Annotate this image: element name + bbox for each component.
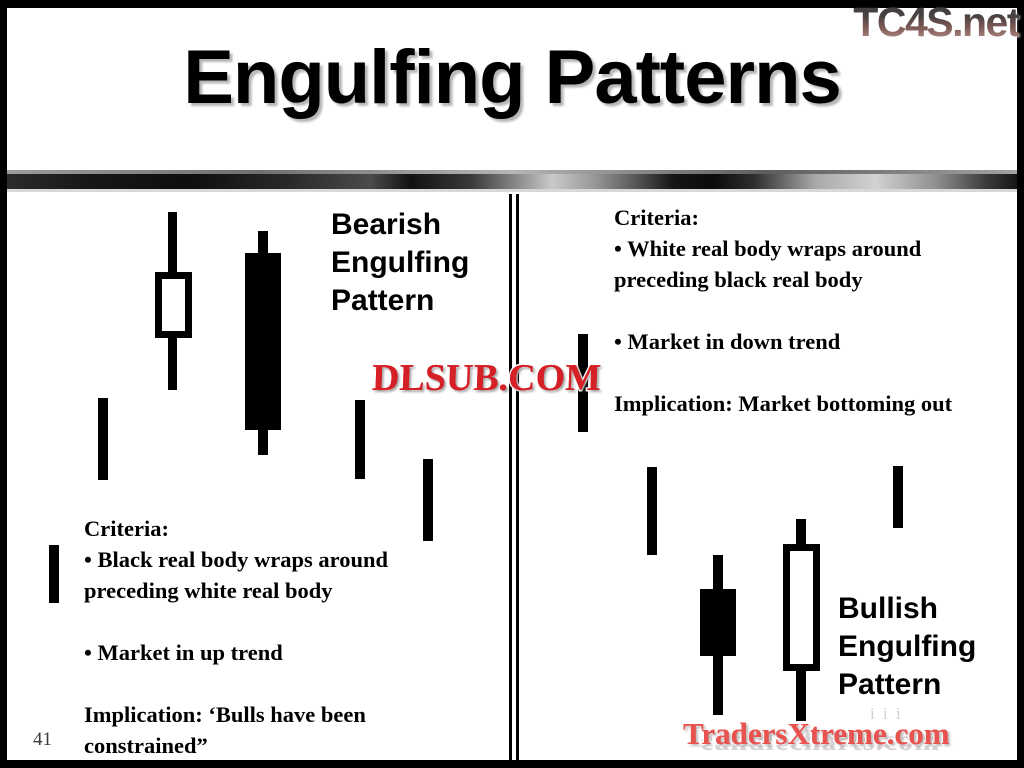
page-title: Engulfing Patterns xyxy=(0,40,1024,116)
panel-divider-line-right xyxy=(516,194,519,760)
bearish-bar-5 xyxy=(49,545,59,603)
bearish-white-candle-body xyxy=(155,272,192,338)
bullish-bar-4 xyxy=(893,466,903,528)
bullish-criteria-bullet-2: • Market in down trend xyxy=(614,326,840,357)
watermark-dlsub-fill: DLSUB.COM xyxy=(371,359,601,397)
bearish-bar-0 xyxy=(98,398,108,480)
bullish-implication: Implication: Market bottoming out xyxy=(614,388,952,419)
watermark-tradersxtreme-fill: TradersXtreme.com xyxy=(683,718,950,749)
title-divider-bar xyxy=(7,174,1017,192)
bearish-black-candle-body xyxy=(245,253,281,430)
bullish-criteria-heading: Criteria: xyxy=(614,202,699,233)
page-number: 41 xyxy=(33,729,52,751)
bullish-bar-1 xyxy=(647,467,657,555)
bullish-black-candle-body xyxy=(700,589,736,656)
panel-divider xyxy=(509,194,520,760)
bullish-white-candle-body xyxy=(783,544,820,671)
bearish-criteria-bullet-1: • Black real body wraps around preceding… xyxy=(84,544,388,606)
watermark-tc4s: TC4S.net xyxy=(853,2,1019,43)
bearish-criteria-bullet-2: • Market in up trend xyxy=(84,637,283,668)
bullish-criteria-bullet-1: • White real body wraps around preceding… xyxy=(614,233,921,295)
frame-bottom-border xyxy=(0,760,1024,768)
bullish-pattern-label: Bullish Engulfing Pattern xyxy=(838,590,976,704)
bearish-bar-3 xyxy=(355,400,365,479)
bearish-bar-4 xyxy=(423,459,433,541)
bearish-pattern-label: Bearish Engulfing Pattern xyxy=(331,206,469,320)
panel-divider-line-left xyxy=(509,194,512,760)
bearish-criteria-heading: Criteria: xyxy=(84,513,169,544)
bearish-implication: Implication: ‘Bulls have been constraine… xyxy=(84,699,366,761)
slide: Engulfing Patterns TC4S.net Bearish Engu… xyxy=(0,0,1024,768)
